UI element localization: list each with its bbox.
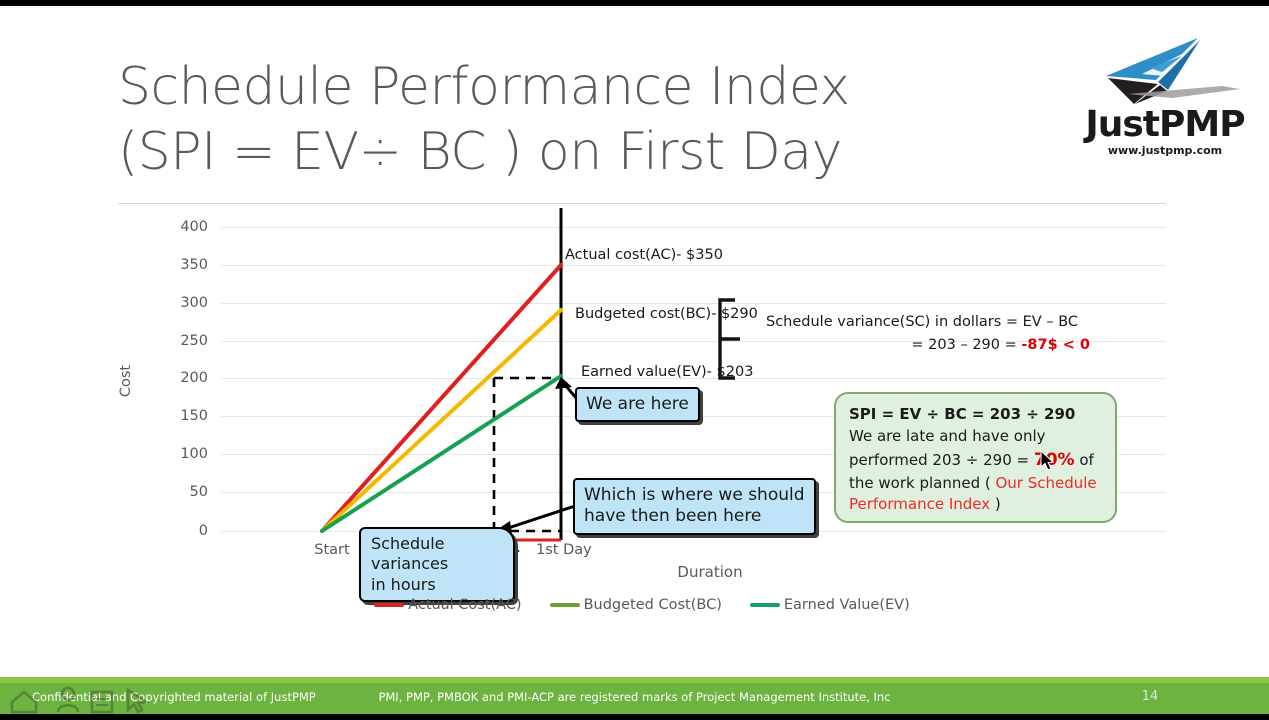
spi-explanation-box: SPI = EV ÷ BC = 203 ÷ 290 We are late an… [834,392,1117,523]
footer-watermark-icons [8,682,168,716]
legend-label-actual-cost: Actual Cost(AC) [408,597,521,613]
callout-we-are-here-text: We are here [586,394,689,414]
spi-line-3-suffix: of [1075,451,1094,469]
page-title: Schedule Performance Index (SPI = EV÷ BC… [118,55,1018,185]
title-line-1: Schedule Performance Index [118,55,1018,120]
spi-line-2: We are late and have only [849,427,1046,445]
legend-swatch-budgeted-cost [550,603,580,607]
callout-should-line-2: have then been here [584,506,805,527]
spi-line-5-suffix: ) [990,495,1001,513]
legend-label-budgeted-cost: Budgeted Cost(BC) [584,597,722,613]
spi-heading: SPI = EV ÷ BC = 203 ÷ 290 [849,404,1102,426]
callout-should-have-been-here: Which is where we should have then been … [573,478,816,535]
callout-schedule-variance-hours: Schedule variances in hours [359,527,515,602]
title-line-2: (SPI = EV÷ BC ) on First Day [118,120,1018,185]
callout-we-are-here: We are here [575,387,700,422]
spi-line-4-red: Our Schedule [995,474,1096,492]
footer-trademark-notice: PMI, PMP, PMBOK and PMI-ACP are register… [0,690,1269,704]
legend-swatch-earned-value [750,603,780,607]
annotation-budgeted-cost: Budgeted cost(BC)- $290 [575,306,758,322]
sv-formula-line: Schedule variance(SC) in dollars = EV – … [766,314,1078,330]
justpmp-logo: JustPMP www.justpmp.com [1072,32,1258,162]
top-black-bar [0,0,1269,6]
annotation-earned-value: Earned value(EV)- $203 [581,364,753,380]
sv-result-prefix: = 203 – 290 = [911,337,1021,353]
legend-item-actual-cost: Actual Cost(AC) [374,597,521,613]
title-divider [118,203,1166,204]
schedule-variance-dollars: Schedule variance(SC) in dollars = EV – … [766,311,1096,357]
legend-item-budgeted-cost: Budgeted Cost(BC) [550,597,722,613]
sched-var-line-2: variances [371,554,503,574]
logo-wordmark: JustPMP [1072,104,1258,145]
legend-swatch-actual-cost [374,603,404,607]
spi-line-4-prefix: the work planned ( [849,474,995,492]
spi-line-5-red: Performance Index [849,495,990,513]
logo-url: www.justpmp.com [1072,144,1258,157]
spi-line-3-prefix: performed 203 ÷ 290 = [849,451,1034,469]
sv-result-line: = 203 – 290 = -87$ < 0 [766,334,1096,357]
sched-var-line-1: Schedule [371,534,503,554]
chart-legend: Actual Cost(AC) Budgeted Cost(BC) Earned… [118,594,1166,616]
callout-should-line-1: Which is where we should [584,485,805,506]
annotation-actual-cost: Actual cost(AC)- $350 [565,247,723,263]
mouse-cursor [1040,450,1056,472]
paper-plane-icon [1072,32,1258,112]
sv-result-value: -87$ < 0 [1021,337,1090,353]
legend-item-earned-value: Earned Value(EV) [750,597,910,613]
bottom-black-bar [0,714,1269,720]
legend-label-earned-value: Earned Value(EV) [784,597,910,613]
footer-page-number: 14 [1130,689,1170,704]
sched-var-line-3: in hours [371,575,503,595]
footer-bar: Confidential and Copyrighted material of… [0,683,1269,714]
